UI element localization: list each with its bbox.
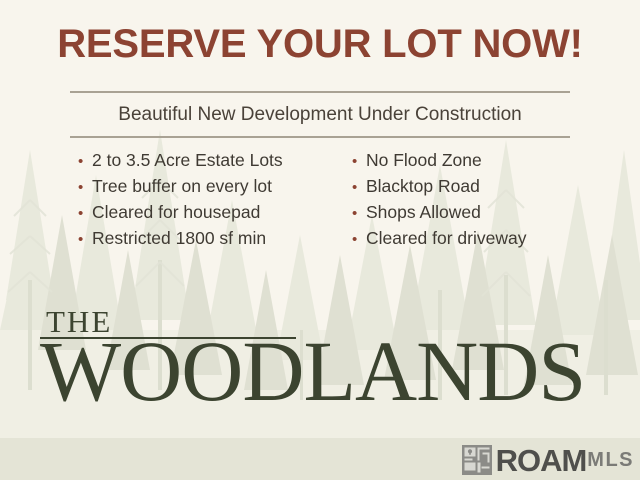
woodlands-logo: THE WOODLANDS	[40, 305, 600, 415]
roam-mls-logo: ROAM MLS	[462, 441, 634, 479]
list-item-label: No Flood Zone	[366, 148, 482, 172]
page-title: RESERVE YOUR LOT NOW!	[0, 20, 640, 68]
real-estate-flyer: RESERVE YOUR LOT NOW! Beautiful New Deve…	[0, 0, 640, 480]
bullet-icon: •	[78, 176, 92, 200]
bullet-icon: •	[352, 150, 366, 174]
list-item: • Restricted 1800 sf min	[78, 226, 358, 252]
list-item-label: Tree buffer on every lot	[92, 174, 272, 198]
bullet-icon: •	[78, 202, 92, 226]
logo-name-label: WOODLANDS	[40, 323, 600, 419]
feature-list-left: • 2 to 3.5 Acre Estate Lots • Tree buffe…	[78, 148, 358, 252]
list-item: • No Flood Zone	[352, 148, 632, 174]
list-item: • Shops Allowed	[352, 200, 632, 226]
list-item-label: Blacktop Road	[366, 174, 480, 198]
bullet-icon: •	[352, 176, 366, 200]
feature-list-right: • No Flood Zone • Blacktop Road • Shops …	[352, 148, 632, 252]
bullet-icon: •	[352, 228, 366, 252]
brand-name-label: ROAM	[496, 445, 587, 476]
list-item-label: Cleared for driveway	[366, 226, 526, 250]
divider-top	[70, 91, 570, 93]
list-item: • Cleared for housepad	[78, 200, 358, 226]
list-item: • Blacktop Road	[352, 174, 632, 200]
bullet-icon: •	[78, 228, 92, 252]
bullet-icon: •	[352, 202, 366, 226]
list-item-label: Cleared for housepad	[92, 200, 260, 224]
list-item: • Cleared for driveway	[352, 226, 632, 252]
list-item-label: 2 to 3.5 Acre Estate Lots	[92, 148, 283, 172]
list-item: • 2 to 3.5 Acre Estate Lots	[78, 148, 358, 174]
roam-floorplan-mark-icon	[462, 445, 492, 475]
list-item-label: Restricted 1800 sf min	[92, 226, 266, 250]
list-item: • Tree buffer on every lot	[78, 174, 358, 200]
divider-bottom	[70, 136, 570, 138]
bullet-icon: •	[78, 150, 92, 174]
brand-suffix-label: MLS	[587, 450, 634, 471]
list-item-label: Shops Allowed	[366, 200, 481, 224]
subtitle: Beautiful New Development Under Construc…	[0, 100, 640, 130]
